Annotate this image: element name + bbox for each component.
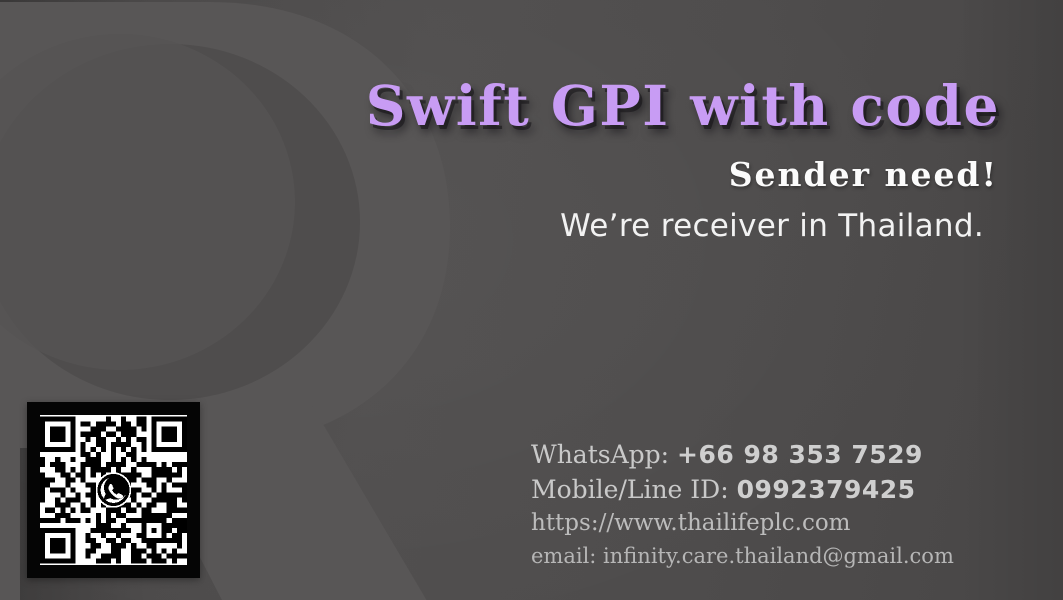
contact-line-id-label: Mobile/Line ID:	[531, 475, 729, 504]
page-title: Swift GPI with code	[0, 78, 1000, 133]
contact-line-id: Mobile/Line ID: 0992379425	[531, 472, 954, 507]
tagline: We’re receiver in Thailand.	[0, 208, 984, 244]
business-card-banner: Swift GPI with code Sender need! We’re r…	[0, 0, 1063, 600]
contact-line-id-value[interactable]: 0992379425	[737, 475, 916, 504]
contact-website[interactable]: https://www.thailifeplc.com	[531, 507, 954, 540]
qr-code-frame[interactable]	[27, 402, 200, 578]
contact-whatsapp-label: WhatsApp:	[531, 440, 669, 469]
contact-email[interactable]: email: infinity.care.thailand@gmail.com	[531, 540, 954, 572]
contact-whatsapp: WhatsApp: +66 98 353 7529	[531, 437, 954, 472]
contact-whatsapp-value[interactable]: +66 98 353 7529	[677, 440, 923, 469]
whatsapp-qr-code[interactable]	[40, 415, 187, 565]
contact-block: WhatsApp: +66 98 353 7529 Mobile/Line ID…	[531, 437, 954, 572]
headline-block: Swift GPI with code	[0, 78, 1000, 133]
subtitle: Sender need!	[0, 155, 998, 194]
whatsapp-logo-icon	[96, 472, 131, 507]
